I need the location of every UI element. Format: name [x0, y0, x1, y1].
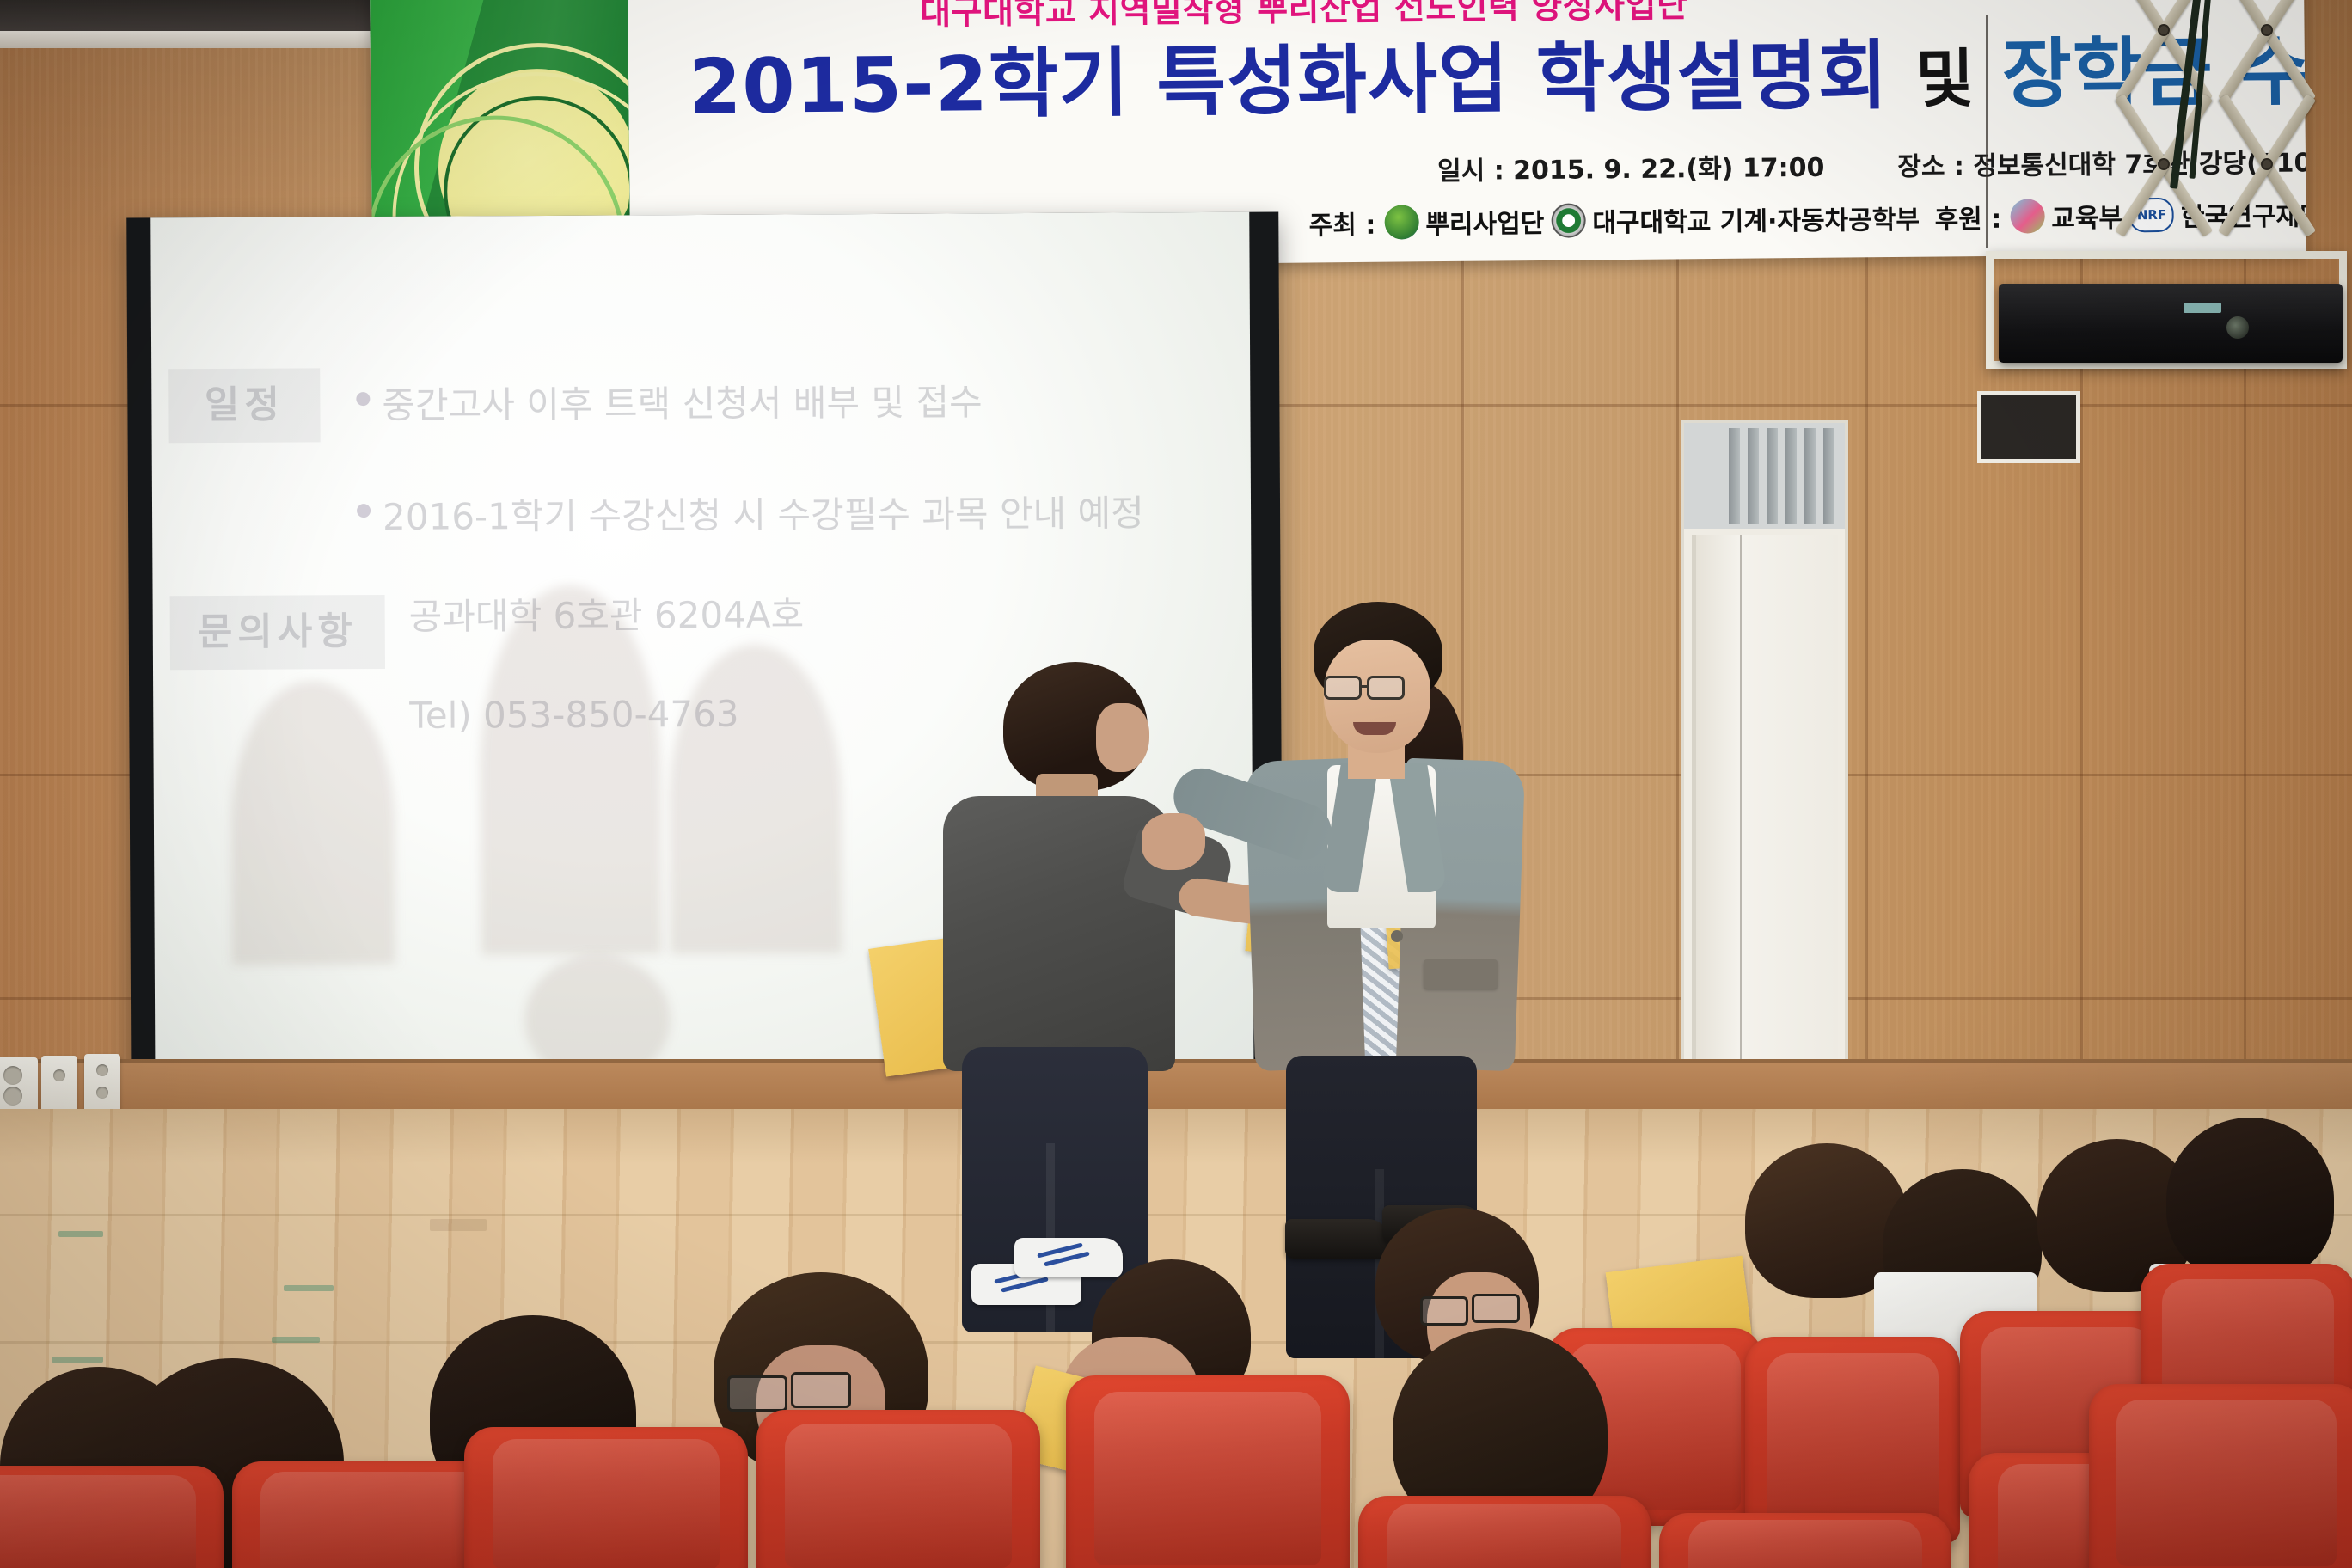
ppuri-logo-icon: [1384, 205, 1418, 239]
door-panel-split: [1740, 535, 1742, 1066]
slide-section2-label: 문의사항: [170, 595, 385, 670]
glasses-icon: [1420, 1296, 1468, 1326]
banner-date-value: 2015. 9. 22.(화) 17:00: [1513, 153, 1824, 186]
banner-title-part1: 2015-2학기 특성화사업 학생설명회: [689, 31, 1889, 131]
auditorium-seat[interactable]: [0, 1466, 224, 1568]
student-receiving-award: [933, 662, 1216, 1315]
scissor-mount-bracket: [2089, 0, 2347, 275]
glasses-bridge: [1362, 685, 1369, 688]
door-transom-louver: [1684, 423, 1845, 533]
slide-section1-label: 일정: [168, 368, 320, 443]
power-outlet[interactable]: [0, 1057, 38, 1112]
host-label: 주최 :: [1308, 204, 1375, 242]
professor-hand-shaking: [1142, 813, 1205, 870]
banner-place-label: 장소 :: [1897, 151, 1964, 182]
professor-dress-shoe: [1285, 1219, 1390, 1259]
banner-date-label: 일시 :: [1437, 156, 1504, 187]
ceiling-lip: [0, 31, 404, 48]
auditorium-seat[interactable]: [2089, 1384, 2352, 1568]
daegu-university-logo-icon: [1551, 203, 1585, 237]
auditorium-seat[interactable]: [1659, 1513, 1951, 1568]
slide-section1-bullet1: 중간고사 이후 트랙 신청서 배부 및 접수: [382, 373, 983, 429]
wall-jack[interactable]: [84, 1054, 120, 1112]
professor-smile: [1353, 722, 1396, 735]
glasses-icon: [727, 1375, 787, 1412]
auditorium-seat[interactable]: [1358, 1496, 1651, 1568]
auditorium-seat[interactable]: [756, 1410, 1040, 1568]
slide-section1-bullet2: 2016-1학기 수강신청 시 수강필수 과목 안내 예정: [383, 484, 1144, 541]
professor-jacket-button: [1391, 930, 1403, 942]
student-sneaker: [1014, 1238, 1123, 1277]
auditorium-door[interactable]: [1692, 535, 1838, 1066]
glasses-icon: [1324, 676, 1362, 700]
ministry-of-education-logo-icon: [2010, 199, 2044, 233]
light-switch[interactable]: [41, 1056, 77, 1114]
professor-jacket-pocket: [1424, 959, 1498, 989]
glasses-icon: [1472, 1294, 1520, 1323]
photo-scene: 대구대학교 지역밀착형 뿌리산업 선도인력 양성사업단 2015-2학기 특성화…: [0, 0, 2352, 1568]
sponsor-label: 후원 :: [1934, 198, 2001, 236]
projector-hanging-wire: [1986, 15, 1988, 248]
host-org1: 뿌리사업단: [1425, 202, 1544, 241]
glasses-icon: [791, 1372, 851, 1408]
slide-section2-line1: 공과대학 6호관 6204A호: [409, 585, 805, 640]
auditorium-seat[interactable]: [1066, 1375, 1350, 1568]
audience-head: [2166, 1118, 2334, 1281]
auditorium-seat[interactable]: [464, 1427, 748, 1568]
projector-lens-icon: [2226, 316, 2249, 339]
host-org2: 대구대학교 기계·자동차공학부: [1592, 199, 1920, 240]
projector-label: [2184, 303, 2221, 313]
slide-section2-line2: Tel) 053-850-4763: [409, 693, 739, 737]
student-hair: [1003, 662, 1148, 791]
ceiling-projector: [1999, 284, 2343, 363]
glasses-icon: [1367, 676, 1405, 700]
banner-title-part2: 및: [1915, 42, 1975, 117]
secondary-door-window: [1977, 391, 2080, 463]
banner-title: 2015-2학기 특성화사업 학생설명회 및 장학금 수여식: [688, 11, 2279, 136]
auditorium-seat[interactable]: [1745, 1337, 1960, 1543]
